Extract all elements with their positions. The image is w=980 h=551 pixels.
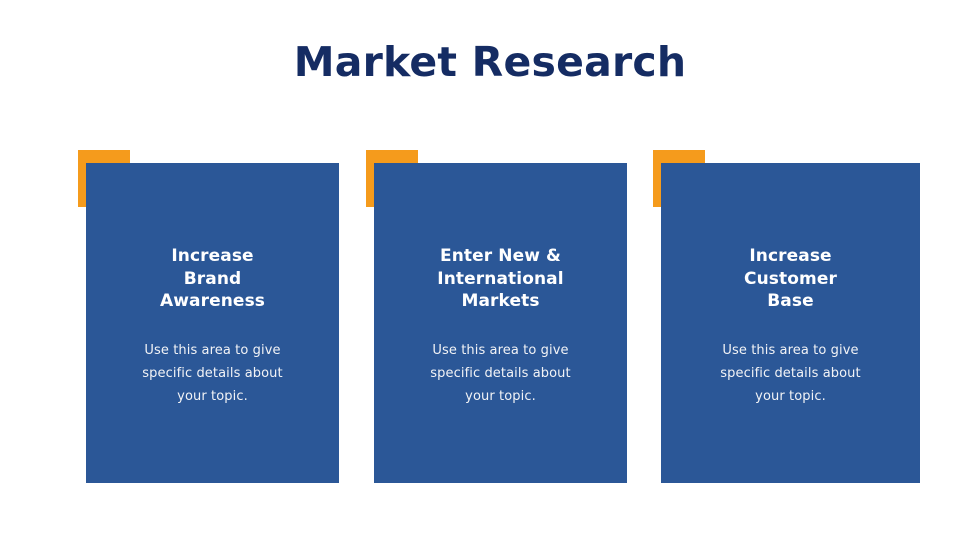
card-heading: IncreaseCustomerBase	[661, 245, 920, 313]
card-increase-brand-awareness[interactable]: IncreaseBrandAwareness Use this area to …	[78, 150, 366, 483]
card-increase-customer-base[interactable]: IncreaseCustomerBase Use this area to gi…	[653, 150, 941, 483]
slide-canvas: Market Research IncreaseBrandAwareness U…	[0, 0, 980, 551]
card-body-text: Use this area to givespecific details ab…	[374, 339, 627, 408]
card-body-text: Use this area to givespecific details ab…	[661, 339, 920, 408]
card-panel: IncreaseCustomerBase Use this area to gi…	[661, 163, 920, 483]
card-panel: IncreaseBrandAwareness Use this area to …	[86, 163, 339, 483]
cards-row: IncreaseBrandAwareness Use this area to …	[78, 150, 920, 483]
card-enter-new-international-markets[interactable]: Enter New &InternationalMarkets Use this…	[366, 150, 654, 483]
card-heading: IncreaseBrandAwareness	[86, 245, 339, 313]
page-title: Market Research	[0, 40, 980, 85]
card-body-text: Use this area to givespecific details ab…	[86, 339, 339, 408]
card-heading: Enter New &InternationalMarkets	[374, 245, 627, 313]
card-panel: Enter New &InternationalMarkets Use this…	[374, 163, 627, 483]
